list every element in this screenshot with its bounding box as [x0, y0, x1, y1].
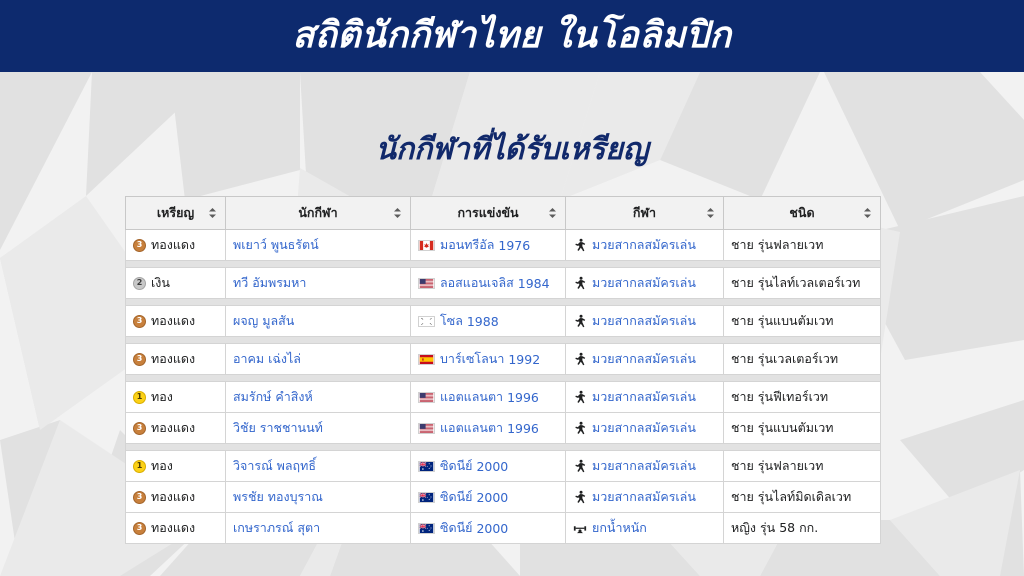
- cell-athlete: พเยาว์ พูนธรัตน์: [226, 230, 411, 261]
- athlete-link[interactable]: ผจญ มูลสัน: [233, 313, 294, 328]
- boxing-icon: [573, 238, 587, 252]
- games-year: 2000: [476, 490, 508, 505]
- games-year: 1996: [507, 390, 539, 405]
- column-header-sport-label: กีฬา: [633, 203, 656, 223]
- event-label: หญิง รุ่น 58 กก.: [731, 520, 818, 535]
- cell-athlete: วิชัย ราชชานนท์: [226, 413, 411, 444]
- games-link[interactable]: ลอสแอนเจลิส: [440, 273, 518, 293]
- athlete-link[interactable]: ทวี อัมพรมหา: [233, 275, 306, 290]
- medal-label: เงิน: [151, 273, 170, 293]
- medal-badge-icon: 3: [133, 239, 146, 252]
- table-row: 3ทองแดงเกษราภรณ์ สุตาซิดนีย์ 2000ยกน้ำหน…: [126, 513, 881, 544]
- athlete-link[interactable]: วิจารณ์ พลฤทธิ์: [233, 458, 316, 473]
- medal-badge-icon: 2: [133, 277, 146, 290]
- event-label: ชาย รุ่นไลท์เวลเตอร์เวท: [731, 275, 860, 290]
- medal-label: ทองแดง: [151, 349, 195, 369]
- australia-flag-icon: [418, 461, 435, 472]
- separator-cell: [126, 337, 881, 344]
- athlete-link[interactable]: อาคม เฉ่งไล่: [233, 351, 301, 366]
- australia-flag-icon: [418, 492, 435, 503]
- medal-label: ทอง: [151, 387, 173, 407]
- games-year: 1988: [467, 314, 499, 329]
- spain-flag-icon: [418, 354, 435, 365]
- cell-event: ชาย รุ่นฟีเทอร์เวท: [724, 382, 881, 413]
- cell-athlete: ทวี อัมพรมหา: [226, 268, 411, 299]
- games-link[interactable]: โซล: [440, 311, 467, 331]
- separator-cell: [126, 299, 881, 306]
- sport-link[interactable]: มวยสากลสมัครเล่น: [592, 487, 696, 507]
- medal-label: ทองแดง: [151, 311, 195, 331]
- cell-games: ลอสแอนเจลิส 1984: [411, 268, 566, 299]
- games-year: 2000: [476, 459, 508, 474]
- event-label: ชาย รุ่นแบนตัมเวท: [731, 313, 833, 328]
- sport-link[interactable]: มวยสากลสมัครเล่น: [592, 387, 696, 407]
- games-link[interactable]: แอตแลนตา: [440, 418, 507, 438]
- boxing-icon: [573, 390, 587, 404]
- sport-link[interactable]: มวยสากลสมัครเล่น: [592, 418, 696, 438]
- medal-badge-icon: 3: [133, 315, 146, 328]
- canada-flag-icon: [418, 240, 435, 251]
- cell-medal: 3ทองแดง: [126, 482, 226, 513]
- separator-cell: [126, 444, 881, 451]
- cell-sport: มวยสากลสมัครเล่น: [566, 413, 724, 444]
- weightlifting-icon: [573, 521, 587, 535]
- cell-sport: มวยสากลสมัครเล่น: [566, 306, 724, 337]
- cell-event: ชาย รุ่นแบนตัมเวท: [724, 306, 881, 337]
- boxing-icon: [573, 352, 587, 366]
- boxing-icon: [573, 490, 587, 504]
- column-header-games-label: การแข่งขัน: [457, 203, 518, 223]
- table-header-row: เหรียญ นักกีฬา การแข่งขัน: [126, 197, 881, 230]
- medal-badge-icon: 3: [133, 522, 146, 535]
- column-header-medal-label: เหรียญ: [157, 203, 194, 223]
- cell-medal: 1ทอง: [126, 451, 226, 482]
- sport-link[interactable]: มวยสากลสมัครเล่น: [592, 235, 696, 255]
- cell-event: ชาย รุ่นฟลายเวท: [724, 230, 881, 261]
- medal-label: ทองแดง: [151, 487, 195, 507]
- medal-badge-icon: 1: [133, 460, 146, 473]
- cell-event: ชาย รุ่นเวลเตอร์เวท: [724, 344, 881, 375]
- athlete-link[interactable]: พรชัย ทองบุราณ: [233, 489, 323, 504]
- table-row: 3ทองแดงพรชัย ทองบุราณซิดนีย์ 2000มวยสากล…: [126, 482, 881, 513]
- column-header-games[interactable]: การแข่งขัน: [411, 197, 566, 230]
- medal-label: ทอง: [151, 456, 173, 476]
- cell-games: ซิดนีย์ 2000: [411, 513, 566, 544]
- cell-medal: 3ทองแดง: [126, 230, 226, 261]
- medal-badge-icon: 3: [133, 422, 146, 435]
- table-row: 2เงินทวี อัมพรมหาลอสแอนเจลิส 1984มวยสากล…: [126, 268, 881, 299]
- cell-medal: 2เงิน: [126, 268, 226, 299]
- cell-athlete: วิจารณ์ พลฤทธิ์: [226, 451, 411, 482]
- column-header-sport[interactable]: กีฬา: [566, 197, 724, 230]
- medal-table-container: เหรียญ นักกีฬา การแข่งขัน: [125, 196, 880, 544]
- cell-event: ชาย รุ่นไลท์เวลเตอร์เวท: [724, 268, 881, 299]
- sport-link[interactable]: มวยสากลสมัครเล่น: [592, 311, 696, 331]
- cell-athlete: อาคม เฉ่งไล่: [226, 344, 411, 375]
- cell-event: หญิง รุ่น 58 กก.: [724, 513, 881, 544]
- table-row: 3ทองแดงวิชัย ราชชานนท์แอตแลนตา 1996มวยสา…: [126, 413, 881, 444]
- medal-badge-icon: 3: [133, 491, 146, 504]
- boxing-icon: [573, 314, 587, 328]
- column-header-medal[interactable]: เหรียญ: [126, 197, 226, 230]
- cell-athlete: พรชัย ทองบุราณ: [226, 482, 411, 513]
- cell-sport: มวยสากลสมัครเล่น: [566, 268, 724, 299]
- games-link[interactable]: ซิดนีย์: [440, 518, 476, 538]
- event-label: ชาย รุ่นฟลายเวท: [731, 237, 823, 252]
- cell-games: โซล 1988: [411, 306, 566, 337]
- cell-sport: มวยสากลสมัครเล่น: [566, 482, 724, 513]
- column-header-event[interactable]: ชนิด: [724, 197, 881, 230]
- event-label: ชาย รุ่นแบนตัมเวท: [731, 420, 833, 435]
- cell-sport: มวยสากลสมัครเล่น: [566, 344, 724, 375]
- cell-games: ซิดนีย์ 2000: [411, 451, 566, 482]
- athlete-link[interactable]: เกษราภรณ์ สุตา: [233, 520, 320, 535]
- sort-updown-icon[interactable]: [548, 208, 557, 219]
- sport-link[interactable]: ยกน้ำหนัก: [592, 518, 647, 538]
- cell-sport: มวยสากลสมัครเล่น: [566, 382, 724, 413]
- medalists-table: เหรียญ นักกีฬา การแข่งขัน: [125, 196, 881, 544]
- event-label: ชาย รุ่นเวลเตอร์เวท: [731, 351, 838, 366]
- cell-medal: 3ทองแดง: [126, 413, 226, 444]
- boxing-icon: [573, 276, 587, 290]
- cell-event: ชาย รุ่นแบนตัมเวท: [724, 413, 881, 444]
- sport-link[interactable]: มวยสากลสมัครเล่น: [592, 456, 696, 476]
- games-link[interactable]: ซิดนีย์: [440, 487, 476, 507]
- cell-games: ซิดนีย์ 2000: [411, 482, 566, 513]
- cell-games: มอนทรีอัล 1976: [411, 230, 566, 261]
- sport-link[interactable]: มวยสากลสมัครเล่น: [592, 349, 696, 369]
- games-link[interactable]: แอตแลนตา: [440, 387, 507, 407]
- south-korea-flag-icon: [418, 316, 435, 327]
- cell-games: บาร์เซโลนา 1992: [411, 344, 566, 375]
- games-year: 1996: [507, 421, 539, 436]
- games-year: 2000: [476, 521, 508, 536]
- usa-flag-icon: [418, 392, 435, 403]
- cell-athlete: สมรักษ์ คำสิงห์: [226, 382, 411, 413]
- games-year: 1984: [518, 276, 550, 291]
- table-group-separator: [126, 299, 881, 306]
- athlete-link[interactable]: วิชัย ราชชานนท์: [233, 420, 323, 435]
- table-row: 3ทองแดงพเยาว์ พูนธรัตน์มอนทรีอัล 1976มวย…: [126, 230, 881, 261]
- cell-medal: 3ทองแดง: [126, 513, 226, 544]
- table-group-separator: [126, 444, 881, 451]
- table-row: 3ทองแดงอาคม เฉ่งไล่บาร์เซโลนา 1992มวยสาก…: [126, 344, 881, 375]
- cell-athlete: เกษราภรณ์ สุตา: [226, 513, 411, 544]
- sort-updown-icon[interactable]: [393, 208, 402, 219]
- sort-updown-icon[interactable]: [706, 208, 715, 219]
- table-body: 3ทองแดงพเยาว์ พูนธรัตน์มอนทรีอัล 1976มวย…: [126, 230, 881, 544]
- table-row: 1ทองวิจารณ์ พลฤทธิ์ซิดนีย์ 2000มวยสากลสม…: [126, 451, 881, 482]
- column-header-event-label: ชนิด: [789, 203, 814, 223]
- sport-link[interactable]: มวยสากลสมัครเล่น: [592, 273, 696, 293]
- usa-flag-icon: [418, 278, 435, 289]
- cell-games: แอตแลนตา 1996: [411, 413, 566, 444]
- games-link[interactable]: บาร์เซโลนา: [440, 349, 508, 369]
- cell-medal: 3ทองแดง: [126, 306, 226, 337]
- medal-label: ทองแดง: [151, 235, 195, 255]
- medal-label: ทองแดง: [151, 418, 195, 438]
- cell-event: ชาย รุ่นฟลายเวท: [724, 451, 881, 482]
- usa-flag-icon: [418, 423, 435, 434]
- boxing-icon: [573, 421, 587, 435]
- cell-sport: ยกน้ำหนัก: [566, 513, 724, 544]
- separator-cell: [126, 375, 881, 382]
- event-label: ชาย รุ่นฟีเทอร์เวท: [731, 389, 828, 404]
- event-label: ชาย รุ่นฟลายเวท: [731, 458, 823, 473]
- games-link[interactable]: ซิดนีย์: [440, 456, 476, 476]
- medal-label: ทองแดง: [151, 518, 195, 538]
- table-row: 1ทองสมรักษ์ คำสิงห์แอตแลนตา 1996มวยสากลส…: [126, 382, 881, 413]
- athlete-link[interactable]: สมรักษ์ คำสิงห์: [233, 389, 313, 404]
- column-header-athlete[interactable]: นักกีฬา: [226, 197, 411, 230]
- page-title: สถิตินักกีฬาไทย ในโอลิมปิก: [292, 18, 731, 54]
- cell-medal: 3ทองแดง: [126, 344, 226, 375]
- sort-updown-icon[interactable]: [863, 208, 872, 219]
- medal-badge-icon: 3: [133, 353, 146, 366]
- games-year: 1992: [508, 352, 540, 367]
- section-subtitle: นักกีฬาที่ได้รับเหรียญ: [0, 126, 1024, 173]
- column-header-athlete-label: นักกีฬา: [298, 203, 337, 223]
- cell-sport: มวยสากลสมัครเล่น: [566, 451, 724, 482]
- table-group-separator: [126, 261, 881, 268]
- medal-badge-icon: 1: [133, 391, 146, 404]
- games-link[interactable]: มอนทรีอัล: [440, 235, 498, 255]
- cell-medal: 1ทอง: [126, 382, 226, 413]
- table-row: 3ทองแดงผจญ มูลสันโซล 1988มวยสากลสมัครเล่…: [126, 306, 881, 337]
- cell-games: แอตแลนตา 1996: [411, 382, 566, 413]
- athlete-link[interactable]: พเยาว์ พูนธรัตน์: [233, 237, 319, 252]
- cell-athlete: ผจญ มูลสัน: [226, 306, 411, 337]
- games-year: 1976: [498, 238, 530, 253]
- cell-event: ชาย รุ่นไลท์มิดเดิลเวท: [724, 482, 881, 513]
- table-group-separator: [126, 375, 881, 382]
- separator-cell: [126, 261, 881, 268]
- boxing-icon: [573, 459, 587, 473]
- australia-flag-icon: [418, 523, 435, 534]
- table-group-separator: [126, 337, 881, 344]
- sort-updown-icon[interactable]: [208, 208, 217, 219]
- header-banner: สถิตินักกีฬาไทย ในโอลิมปิก: [0, 0, 1024, 72]
- cell-sport: มวยสากลสมัครเล่น: [566, 230, 724, 261]
- event-label: ชาย รุ่นไลท์มิดเดิลเวท: [731, 489, 851, 504]
